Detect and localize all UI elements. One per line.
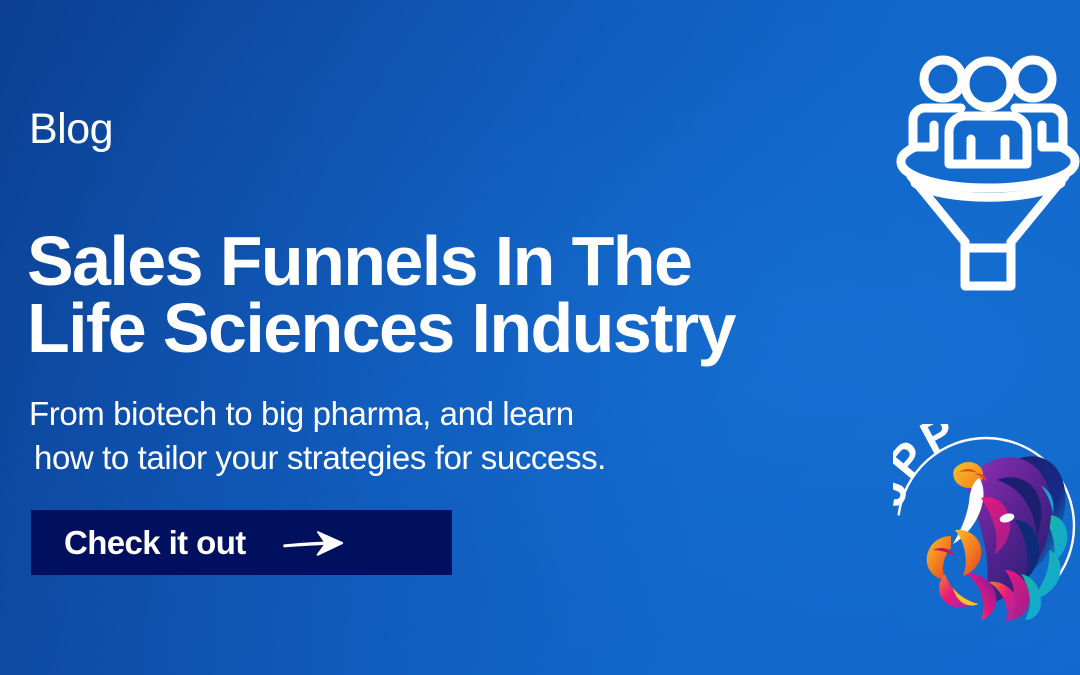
wolf-head-illustration xyxy=(927,456,1068,622)
subtitle-line-1: From biotech to big pharma, and learn xyxy=(29,392,606,436)
eyebrow-label: Blog xyxy=(29,108,113,151)
jpp-wolf-logo: JPP xyxy=(893,424,1079,622)
check-it-out-button[interactable]: Check it out xyxy=(31,510,452,575)
funnel-person-center-body xyxy=(949,116,1027,164)
cta-label: Check it out xyxy=(64,524,246,562)
funnel-rim-right-tip xyxy=(1061,147,1075,162)
funnel-person-right-head xyxy=(1014,60,1052,98)
headline-line-1: Sales Funnels In The xyxy=(27,228,735,295)
banner-content: Blog Sales Funnels In The Life Sciences … xyxy=(0,0,1080,675)
funnel-person-center-head xyxy=(965,61,1011,107)
funnel-rim-left-tip xyxy=(901,147,915,162)
sales-funnel-people-icon xyxy=(893,46,1080,294)
arrow-right-icon xyxy=(283,526,345,560)
funnel-person-left-head xyxy=(924,60,962,98)
page-title: Sales Funnels In The Life Sciences Indus… xyxy=(27,228,735,362)
subtitle-line-2: how to tailor your strategies for succes… xyxy=(29,436,606,480)
blog-promo-banner: Blog Sales Funnels In The Life Sciences … xyxy=(0,0,1080,675)
headline-line-2: Life Sciences Industry xyxy=(27,295,735,362)
subtitle: From biotech to big pharma, and learn ho… xyxy=(29,392,606,480)
